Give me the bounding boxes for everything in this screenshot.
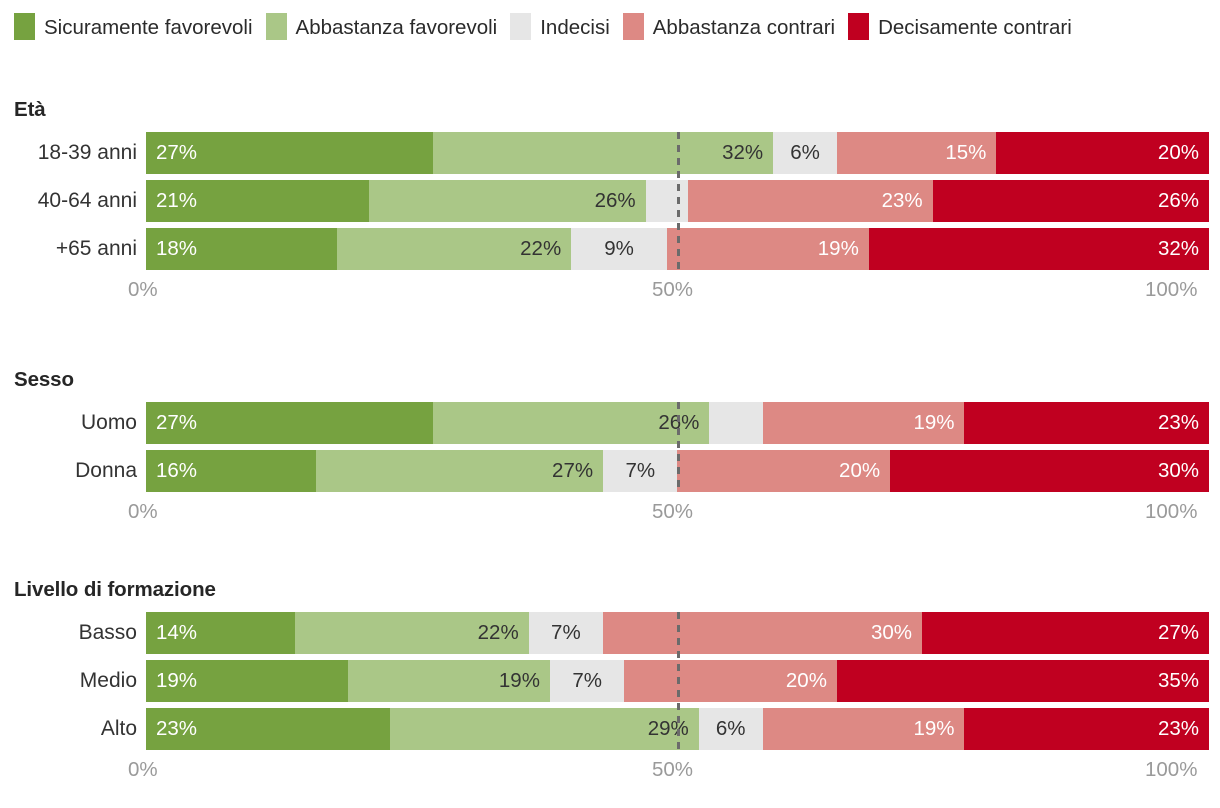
row-category-label: 40-64 anni [0,180,137,222]
group-rows: Basso14%22%7%30%27%Medio19%19%7%20%35%Al… [0,612,1220,756]
legend-item: Decisamente contrari [848,10,1072,46]
bar-segment[interactable]: 26% [433,402,709,444]
bar-segment[interactable]: 6% [699,708,763,750]
chart-row[interactable]: 18-39 anni27%32%6%15%20% [0,132,1220,174]
row-category-label: Alto [0,708,137,750]
bar-segment[interactable]: 30% [603,612,922,654]
bar-segment[interactable]: 35% [837,660,1209,702]
bar-segment[interactable]: 20% [996,132,1209,174]
legend-item: Sicuramente favorevoli [14,10,253,46]
bar-segment[interactable]: 19% [348,660,550,702]
legend-item-label: Abbastanza favorevoli [296,16,498,39]
bar-segment[interactable]: 27% [146,402,433,444]
x-axis: 0%50%100% [0,278,1220,308]
chart-root: Sicuramente favorevoliAbbastanza favorev… [0,0,1220,808]
bar-segment[interactable]: 19% [667,228,869,270]
bar-segment[interactable]: 19% [763,708,965,750]
axis-tick-label: 50% [652,758,693,782]
legend-item-label: Abbastanza contrari [653,16,835,39]
legend-item: Abbastanza contrari [623,10,835,46]
bar-segment[interactable]: 23% [146,708,390,750]
stacked-bar: 23%29%6%19%23% [146,708,1209,750]
row-category-label: Medio [0,660,137,702]
group-title: Livello di formazione [14,578,216,602]
bar-segment[interactable] [709,402,762,444]
bar-segment[interactable]: 20% [677,450,890,492]
axis-tick-label: 100% [1145,758,1197,782]
legend-swatch-icon [266,13,287,40]
axis-tick-label: 0% [128,758,158,782]
legend-item: Indecisi [510,10,610,46]
legend-swatch-icon [14,13,35,40]
bar-segment[interactable]: 32% [869,228,1209,270]
bar-segment[interactable]: 22% [295,612,529,654]
chart-row[interactable]: +65 anni18%22%9%19%32% [0,228,1220,270]
row-category-label: Basso [0,612,137,654]
bar-segment[interactable]: 9% [571,228,667,270]
bar-segment[interactable]: 27% [146,132,433,174]
bar-segment[interactable]: 19% [146,660,348,702]
bar-segment[interactable]: 19% [763,402,965,444]
stacked-bar: 14%22%7%30%27% [146,612,1209,654]
bar-segment[interactable]: 7% [550,660,624,702]
row-category-label: Donna [0,450,137,492]
bar-segment[interactable]: 6% [773,132,837,174]
bar-segment[interactable]: 23% [964,402,1208,444]
chart-row[interactable]: Donna16%27%7%20%30% [0,450,1220,492]
axis-tick-label: 50% [652,500,693,524]
stacked-bar: 19%19%7%20%35% [146,660,1209,702]
bar-segment[interactable]: 22% [337,228,571,270]
bar-segment[interactable]: 21% [146,180,369,222]
group-rows: 18-39 anni27%32%6%15%20%40-64 anni21%26%… [0,132,1220,276]
group-title: Sesso [14,368,74,392]
bar-segment[interactable]: 26% [369,180,645,222]
bar-segment[interactable]: 23% [964,708,1208,750]
group-title: Età [14,98,46,122]
bar-segment[interactable]: 30% [890,450,1209,492]
legend-swatch-icon [848,13,869,40]
legend-item: Abbastanza favorevoli [266,10,498,46]
chart-row[interactable]: Basso14%22%7%30%27% [0,612,1220,654]
chart-row[interactable]: Uomo27%26%19%23% [0,402,1220,444]
bar-segment[interactable]: 32% [433,132,773,174]
bar-segment[interactable] [646,180,689,222]
chart-legend: Sicuramente favorevoliAbbastanza favorev… [14,10,1214,46]
group-rows: Uomo27%26%19%23%Donna16%27%7%20%30% [0,402,1220,498]
stacked-bar: 27%26%19%23% [146,402,1209,444]
axis-tick-label: 50% [652,278,693,302]
bar-segment[interactable]: 18% [146,228,337,270]
chart-row[interactable]: Medio19%19%7%20%35% [0,660,1220,702]
legend-swatch-icon [510,13,531,40]
legend-item-label: Sicuramente favorevoli [44,16,253,39]
bar-segment[interactable]: 27% [922,612,1209,654]
legend-item-label: Indecisi [540,16,610,39]
x-axis: 0%50%100% [0,500,1220,530]
chart-row[interactable]: 40-64 anni21%26%23%26% [0,180,1220,222]
x-axis: 0%50%100% [0,758,1220,788]
legend-item-label: Decisamente contrari [878,16,1072,39]
bar-segment[interactable]: 27% [316,450,603,492]
legend-swatch-icon [623,13,644,40]
chart-row[interactable]: Alto23%29%6%19%23% [0,708,1220,750]
bar-segment[interactable]: 14% [146,612,295,654]
stacked-bar: 18%22%9%19%32% [146,228,1209,270]
bar-segment[interactable]: 7% [529,612,603,654]
row-category-label: +65 anni [0,228,137,270]
bar-segment[interactable]: 26% [933,180,1209,222]
bar-segment[interactable]: 16% [146,450,316,492]
bar-segment[interactable]: 7% [603,450,677,492]
stacked-bar: 16%27%7%20%30% [146,450,1209,492]
stacked-bar: 27%32%6%15%20% [146,132,1209,174]
bar-segment[interactable]: 23% [688,180,932,222]
stacked-bar: 21%26%23%26% [146,180,1209,222]
row-category-label: 18-39 anni [0,132,137,174]
bar-segment[interactable]: 29% [390,708,698,750]
axis-tick-label: 100% [1145,278,1197,302]
axis-tick-label: 0% [128,278,158,302]
axis-tick-label: 100% [1145,500,1197,524]
bar-segment[interactable]: 20% [624,660,837,702]
row-category-label: Uomo [0,402,137,444]
axis-tick-label: 0% [128,500,158,524]
bar-segment[interactable]: 15% [837,132,996,174]
